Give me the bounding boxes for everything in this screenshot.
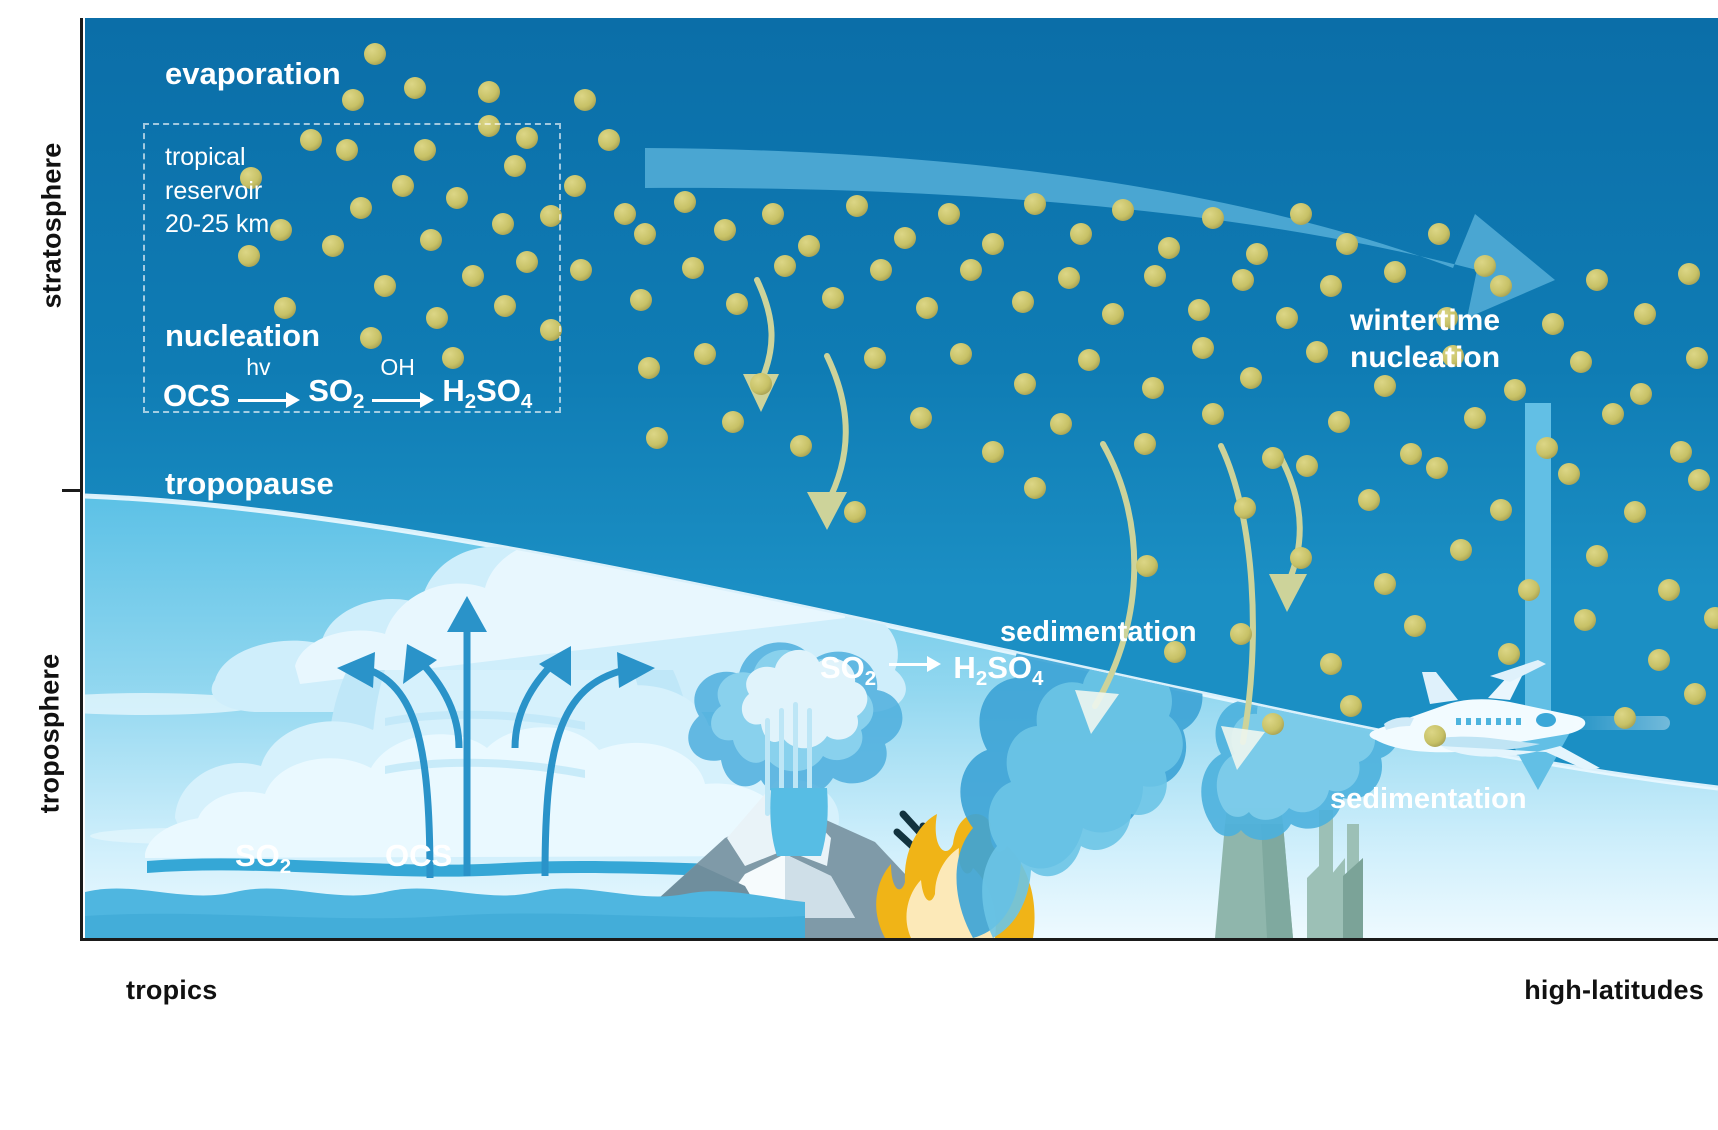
label-nucleation: nucleation [165,318,320,354]
plume-so2: SO2 [820,650,876,685]
reaction-arrow-oxidation: OH [372,384,434,410]
reaction-catalyst-oh: OH [380,354,415,381]
ocean-waves-icon [85,889,805,938]
label-tropopause: tropopause [165,466,334,502]
reaction-species-ocs: OCS [163,378,230,414]
sedimentation-arrow-3 [1095,444,1134,706]
wintertime-line-2: nucleation [1350,340,1500,377]
sedimentation-arrowheads-2 [807,492,847,530]
plume-h2so4: H2SO4 [953,650,1043,685]
y-axis-line [80,18,83,940]
x-axis-label-high-latitudes: high-latitudes [1524,975,1704,1006]
reaction-species-h2so4: H2SO4 [442,373,532,414]
label-wintertime-nucleation: wintertime nucleation [1350,303,1500,376]
y-axis-tropopause-tick [62,489,82,492]
reservoir-line-3: 20-25 km [165,208,269,242]
diagram-panel: evaporation tropical reservoir 20-25 km … [85,18,1718,938]
reservoir-line-1: tropical [165,141,269,175]
sed-arrowhead-5 [1269,574,1307,612]
reaction-arrow-photolysis: hv [238,384,300,410]
label-surface-ocs: OCS [385,838,452,874]
plume-reaction-arrow [889,648,941,674]
y-axis-label-stratosphere: stratosphere [37,136,68,316]
figure-root: stratosphere troposphere tropics high-la… [0,0,1718,1130]
reservoir-line-2: reservoir [165,175,269,209]
x-axis-label-tropics: tropics [126,975,217,1006]
sed-arrowhead-2 [807,492,847,530]
reaction-species-so2: SO2 [308,373,364,414]
label-tropical-reservoir: tropical reservoir 20-25 km [165,141,269,242]
x-axis-line [80,938,1718,941]
sedimentation-arrow-2 [827,356,846,504]
nucleation-reaction-chain: OCS hv SO2 OH H2SO4 [163,373,532,414]
sedimentation-arrow-1 [757,280,772,386]
wintertime-line-1: wintertime [1350,303,1500,340]
label-plume-reaction: SO2 H2SO4 [820,648,1043,691]
brewer-dobson-circulation-arrow [645,148,1555,318]
y-axis-label-troposphere: troposphere [35,644,66,824]
reaction-catalyst-hv: hv [246,354,270,381]
label-sedimentation-lower: sedimentation [1330,783,1527,816]
label-surface-so2: SO2 [235,838,291,879]
label-sedimentation-upper: sedimentation [1000,616,1197,649]
sedimentation-arrowheads-5 [1269,574,1307,612]
label-evaporation: evaporation [165,56,341,92]
